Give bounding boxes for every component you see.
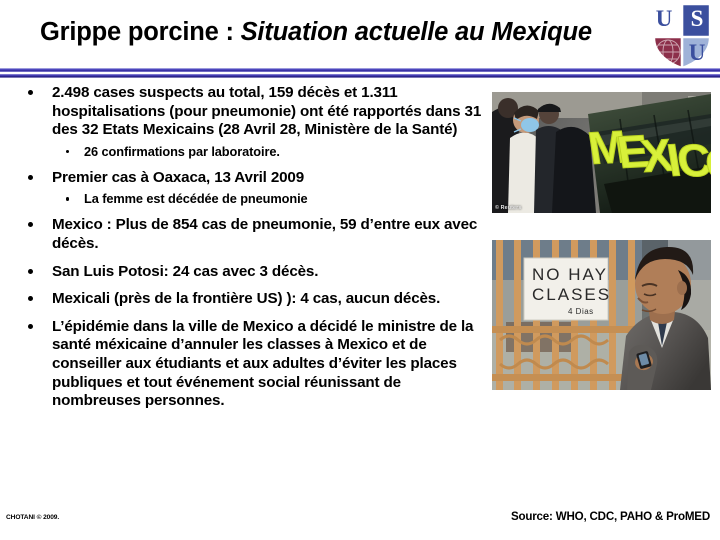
- title-zone: Grippe porcine : Situation actuelle au M…: [0, 14, 720, 66]
- svg-text:4 Dias: 4 Dias: [568, 307, 594, 316]
- photo-credit: © Reuters: [495, 205, 521, 211]
- bullet-dot-icon: [28, 296, 33, 301]
- page-title-prefix: Grippe porcine :: [40, 18, 241, 46]
- bullet-dot-icon: [28, 90, 33, 95]
- bullet-text: 2.498 cases suspects au total, 159 décès…: [52, 84, 490, 140]
- bullet-item-4: San Luis Potosi: 24 cas avec 3 décès.: [10, 263, 490, 282]
- bullet-text: Mexico : Plus de 854 cas de pneumonie, 5…: [52, 216, 490, 253]
- bullet-item-2: Premier cas à Oaxaca, 13 Avril 2009 La f…: [10, 169, 490, 208]
- sub-bullet-list: 26 confirmations par laboratoire.: [52, 144, 490, 160]
- photo-mexico-bus: M E X I C O © Reuters: [492, 92, 711, 213]
- sub-bullet-item-2-1: La femme est décédée de pneumonie: [52, 191, 490, 207]
- svg-text:U: U: [656, 6, 673, 31]
- bullet-text: Mexicali (près de la frontière US) ): 4 …: [52, 290, 490, 309]
- sub-bullet-dot-icon: [66, 197, 69, 200]
- svg-text:S: S: [691, 6, 704, 31]
- sub-bullet-dot-icon: [66, 150, 69, 153]
- bullet-item-3: Mexico : Plus de 854 cas de pneumonie, 5…: [10, 216, 490, 253]
- bullet-text: L’épidémie dans la ville de Mexico a déc…: [52, 318, 490, 411]
- bullet-item-5: Mexicali (près de la frontière US) ): 4 …: [10, 290, 490, 309]
- svg-text:NO HAY: NO HAY: [532, 265, 608, 284]
- page-title-emphasis: Situation actuelle au Mexique: [241, 18, 592, 46]
- sub-bullet-text: La femme est décédée de pneumonie: [84, 191, 490, 207]
- sub-bullet-list: La femme est décédée de pneumonie: [52, 191, 490, 207]
- bullet-dot-icon: [28, 222, 33, 227]
- usu-shield-logo-icon: U S U: [648, 0, 716, 70]
- page-title: Grippe porcine : Situation actuelle au M…: [40, 16, 670, 48]
- footer-source: Source: WHO, CDC, PAHO & ProMED: [511, 510, 710, 523]
- divider-line-bottom: [0, 74, 720, 78]
- title-divider-rule: [0, 68, 720, 79]
- svg-text:CLASES: CLASES: [532, 285, 611, 304]
- bullet-dot-icon: [28, 269, 33, 274]
- bullet-item-1: 2.498 cases suspects au total, 159 décès…: [10, 84, 490, 160]
- bullet-item-6: L’épidémie dans la ville de Mexico a déc…: [10, 318, 490, 411]
- bullet-dot-icon: [28, 175, 33, 180]
- svg-text:U: U: [689, 40, 706, 65]
- photo-no-hay-clases: NO HAY CLASES 4 Dias: [492, 240, 711, 390]
- sub-bullet-text: 26 confirmations par laboratoire.: [84, 144, 490, 160]
- content-body: 2.498 cases suspects au total, 159 décès…: [10, 84, 490, 480]
- bullet-dot-icon: [28, 324, 33, 329]
- bullet-text: Premier cas à Oaxaca, 13 Avril 2009: [52, 169, 490, 188]
- bullet-text: San Luis Potosi: 24 cas avec 3 décès.: [52, 263, 490, 282]
- slide-canvas: Grippe porcine : Situation actuelle au M…: [0, 0, 720, 540]
- sub-bullet-item-1-1: 26 confirmations par laboratoire.: [52, 144, 490, 160]
- footer-copyright: CHOTANI © 2009.: [6, 514, 59, 521]
- bullet-list: 2.498 cases suspects au total, 159 décès…: [10, 84, 490, 411]
